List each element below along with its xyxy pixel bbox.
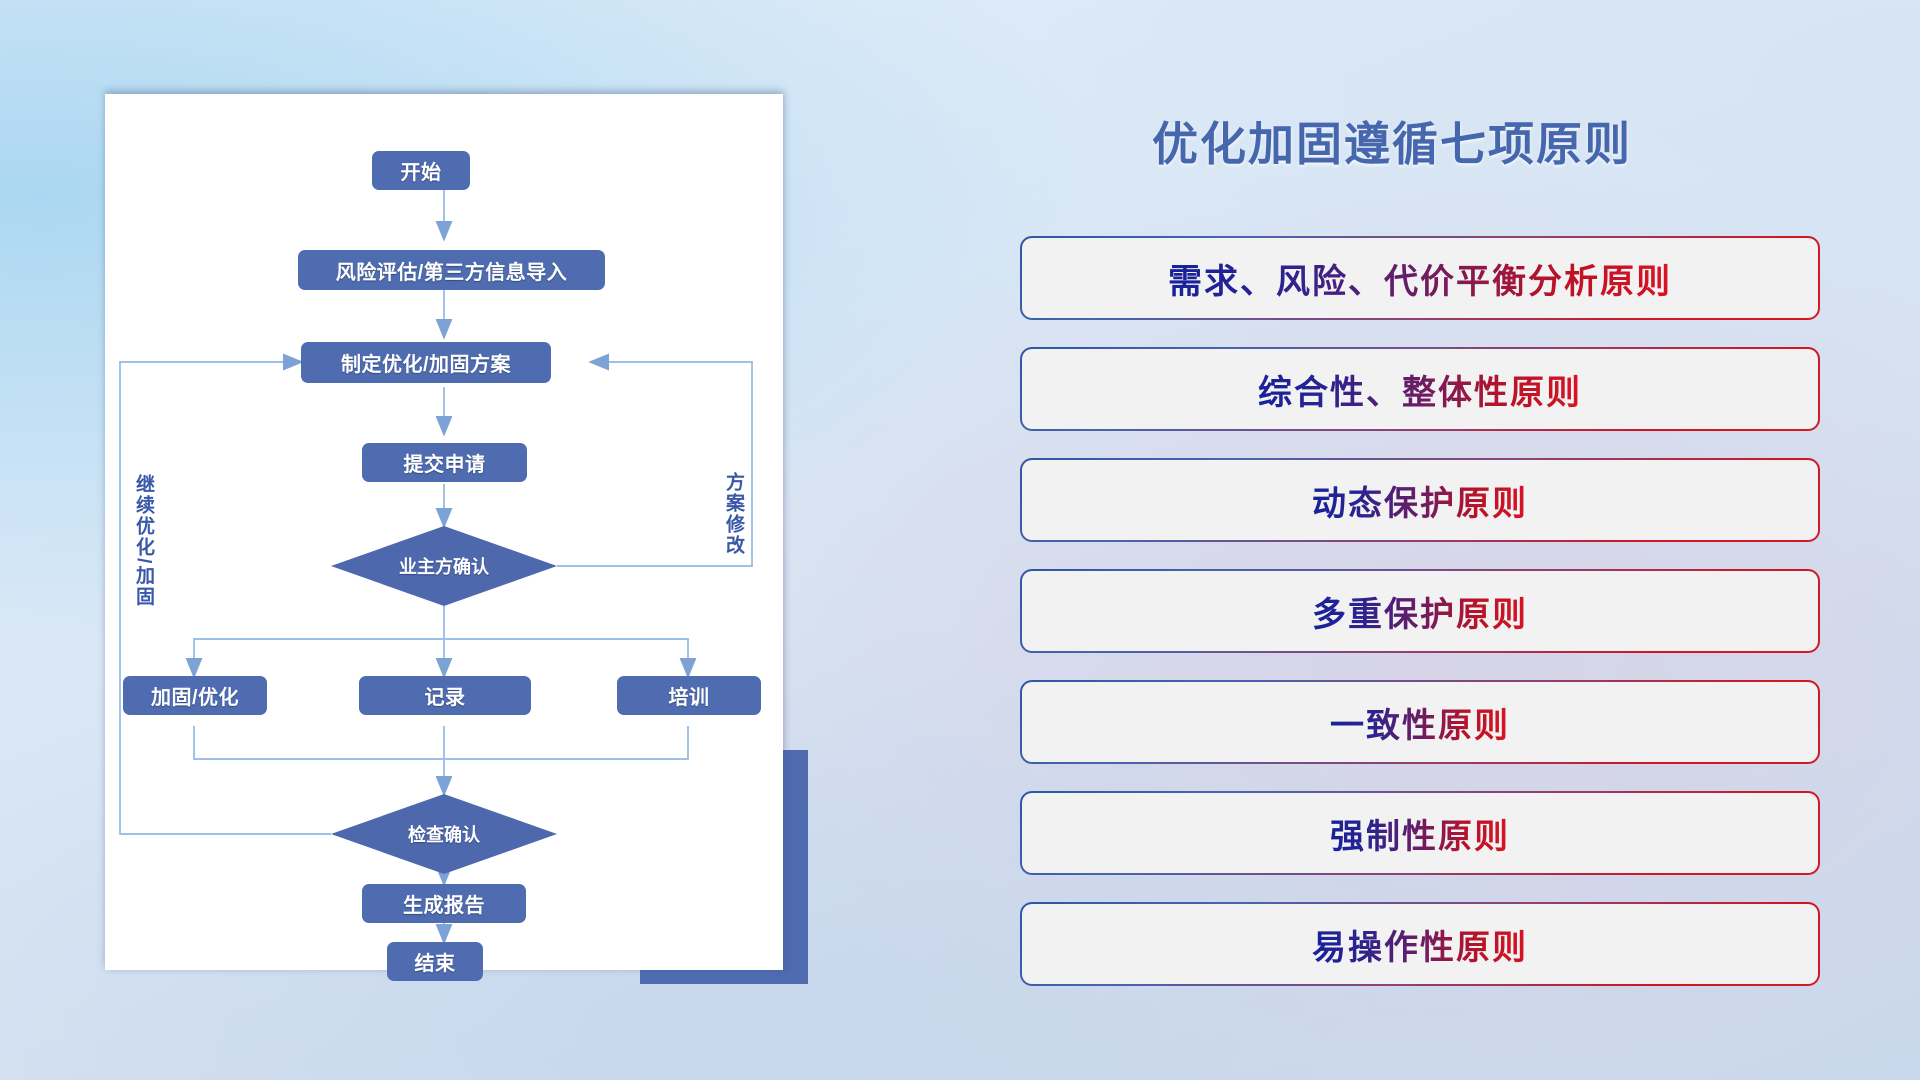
flow-label-continue-optimize: 继续优化/加固: [133, 474, 153, 607]
flow-node-report[interactable]: 生成报告: [362, 884, 526, 923]
flow-node-training-label: 培训: [669, 681, 710, 710]
principles-panel: 优化加固遵循七项原则 需求、风险、代价平衡分析原则 综合性、整体性原则 动态保护…: [1020, 0, 1920, 1080]
principle-card-7[interactable]: 易操作性原则: [1020, 902, 1820, 986]
principle-card-label: 综合性、整体性原则: [1258, 365, 1582, 414]
principle-card-label: 强制性原则: [1330, 809, 1510, 858]
principle-card-inner: 强制性原则: [1022, 793, 1818, 873]
principle-card-label: 需求、风险、代价平衡分析原则: [1168, 254, 1672, 303]
principle-card-inner: 动态保护原则: [1022, 460, 1818, 540]
flow-node-end[interactable]: 结束: [387, 942, 483, 981]
principle-card-inner: 多重保护原则: [1022, 571, 1818, 651]
principle-card-inner: 易操作性原则: [1022, 904, 1818, 984]
flow-node-owner-confirm[interactable]: 业主方确认: [331, 526, 557, 606]
flow-node-reinforce[interactable]: 加固/优化: [123, 676, 267, 715]
principle-card-1[interactable]: 需求、风险、代价平衡分析原则: [1020, 236, 1820, 320]
flow-node-owner-confirm-label: 业主方确认: [399, 553, 489, 579]
principle-card-inner: 需求、风险、代价平衡分析原则: [1022, 238, 1818, 318]
principle-card-inner: 一致性原则: [1022, 682, 1818, 762]
flow-node-training[interactable]: 培训: [617, 676, 761, 715]
flow-node-assess[interactable]: 风险评估/第三方信息导入: [298, 250, 605, 290]
principle-card-6[interactable]: 强制性原则: [1020, 791, 1820, 875]
flow-node-record[interactable]: 记录: [359, 676, 531, 715]
page-title: 优化加固遵循七项原则: [1152, 108, 1632, 174]
flow-node-plan[interactable]: 制定优化/加固方案: [301, 342, 551, 383]
flow-node-record-label: 记录: [425, 681, 466, 710]
flow-node-submit[interactable]: 提交申请: [362, 443, 527, 482]
flow-node-end-label: 结束: [415, 947, 456, 976]
flow-node-inspect-confirm[interactable]: 检查确认: [331, 794, 557, 874]
flow-node-assess-label: 风险评估/第三方信息导入: [336, 256, 568, 285]
principle-card-label: 动态保护原则: [1312, 476, 1528, 525]
flow-node-inspect-confirm-label: 检查确认: [408, 821, 480, 847]
flow-node-start[interactable]: 开始: [372, 151, 470, 190]
flow-node-submit-label: 提交申请: [404, 448, 486, 477]
principle-card-3[interactable]: 动态保护原则: [1020, 458, 1820, 542]
flow-node-reinforce-label: 加固/优化: [151, 681, 239, 710]
principle-card-5[interactable]: 一致性原则: [1020, 680, 1820, 764]
principle-card-label: 易操作性原则: [1312, 920, 1528, 969]
principle-card-inner: 综合性、整体性原则: [1022, 349, 1818, 429]
principle-card-label: 多重保护原则: [1312, 587, 1528, 636]
flow-node-plan-label: 制定优化/加固方案: [341, 348, 511, 377]
flow-node-report-label: 生成报告: [403, 889, 485, 918]
flowchart-card: 开始 风险评估/第三方信息导入 制定优化/加固方案 提交申请 业主方确认 加固/…: [105, 94, 783, 970]
slide-canvas: 开始 风险评估/第三方信息导入 制定优化/加固方案 提交申请 业主方确认 加固/…: [0, 0, 1920, 1080]
principle-card-label: 一致性原则: [1330, 698, 1510, 747]
flow-node-start-label: 开始: [401, 156, 442, 185]
principle-card-2[interactable]: 综合性、整体性原则: [1020, 347, 1820, 431]
flow-label-plan-revision: 方案修改: [723, 472, 743, 556]
principle-card-4[interactable]: 多重保护原则: [1020, 569, 1820, 653]
